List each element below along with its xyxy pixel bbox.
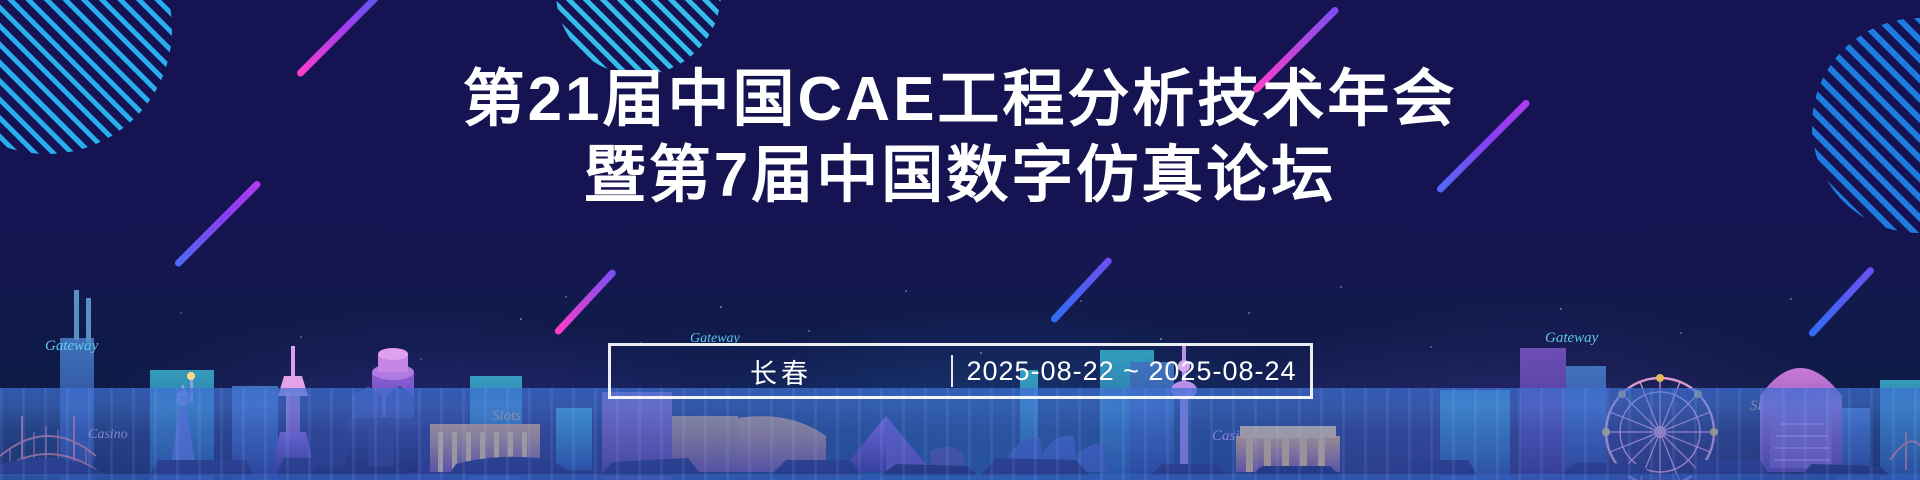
event-info-box: 长春 2025-08-22 ~ 2025-08-24 <box>608 343 1313 399</box>
page-title: 第21届中国CAE工程分析技术年会 暨第7届中国数字仿真论坛 <box>0 62 1920 214</box>
svg-text:Gateway: Gateway <box>1545 330 1599 346</box>
svg-text:Gateway: Gateway <box>45 338 99 354</box>
title-line-2: 暨第7届中国数字仿真论坛 <box>0 138 1920 214</box>
event-date-range: 2025-08-22 ~ 2025-08-24 <box>953 356 1310 387</box>
title-line-1: 第21届中国CAE工程分析技术年会 <box>0 62 1920 138</box>
conference-banner: Gateway Gateway Gateway Casino Casino Sl… <box>0 0 1920 480</box>
event-city: 长春 <box>611 352 951 391</box>
water-reflection-streaks <box>0 388 1920 480</box>
